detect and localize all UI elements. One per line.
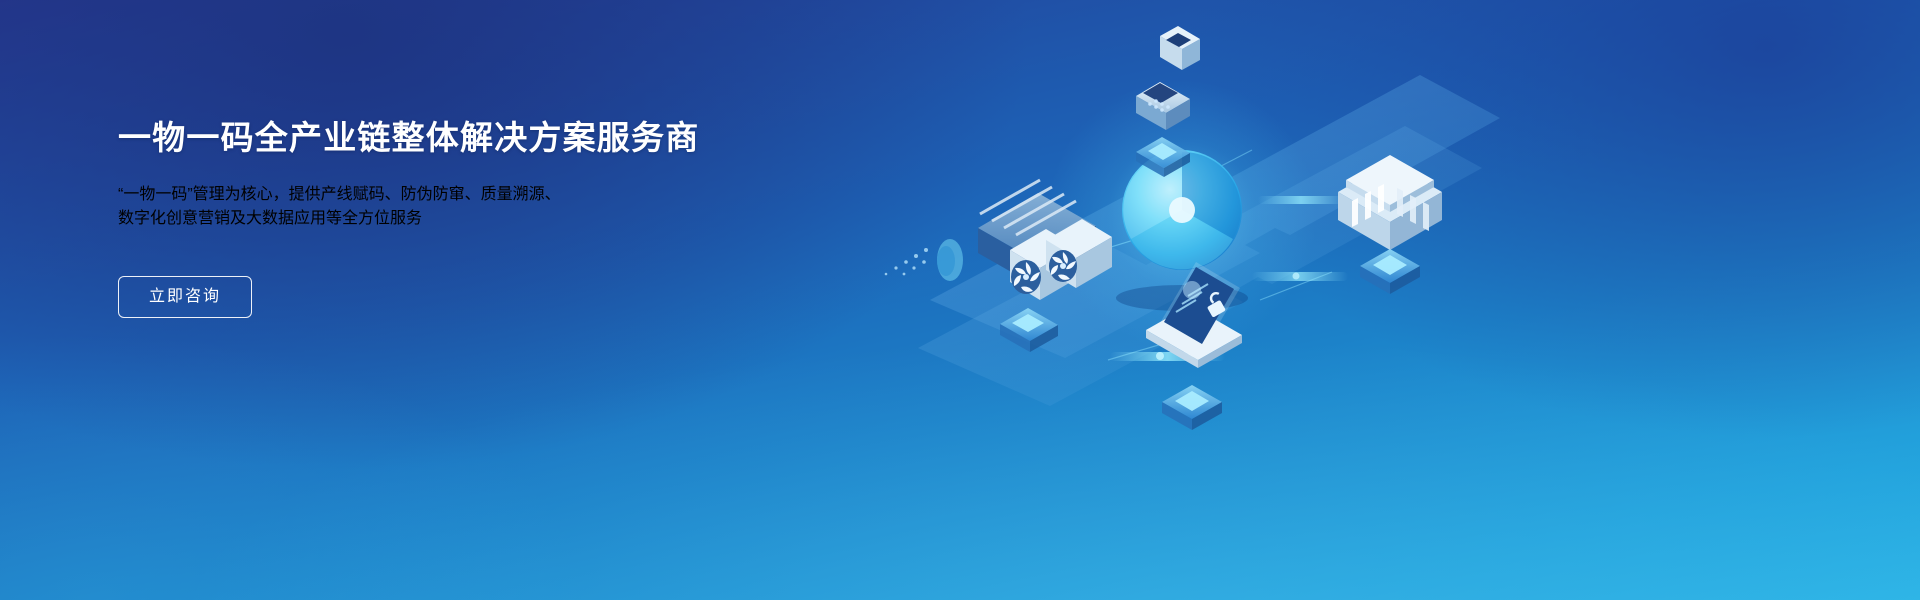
signal-emitter-icon [885, 239, 963, 281]
page-title: 一物一码全产业链整体解决方案服务商 [118, 118, 838, 158]
hero-copy: 一物一码全产业链整体解决方案服务商 “一物一码”管理为核心，提供产线赋码、防伪防… [118, 118, 838, 318]
hero-banner: 一物一码全产业链整体解决方案服务商 “一物一码”管理为核心，提供产线赋码、防伪防… [0, 0, 1920, 600]
isometric-network-graphic [860, 0, 1560, 600]
hero-subtitle-line-1: “一物一码”管理为核心，提供产线赋码、防伪防窜、质量溯源、 [118, 180, 838, 204]
hero-subtitle-line-2: 数字化创意营销及大数据应用等全方位服务 [118, 204, 838, 228]
bank-building-icon [1338, 155, 1442, 294]
consult-now-button[interactable]: 立即咨询 [118, 276, 252, 318]
hero-illustration [860, 0, 1560, 600]
